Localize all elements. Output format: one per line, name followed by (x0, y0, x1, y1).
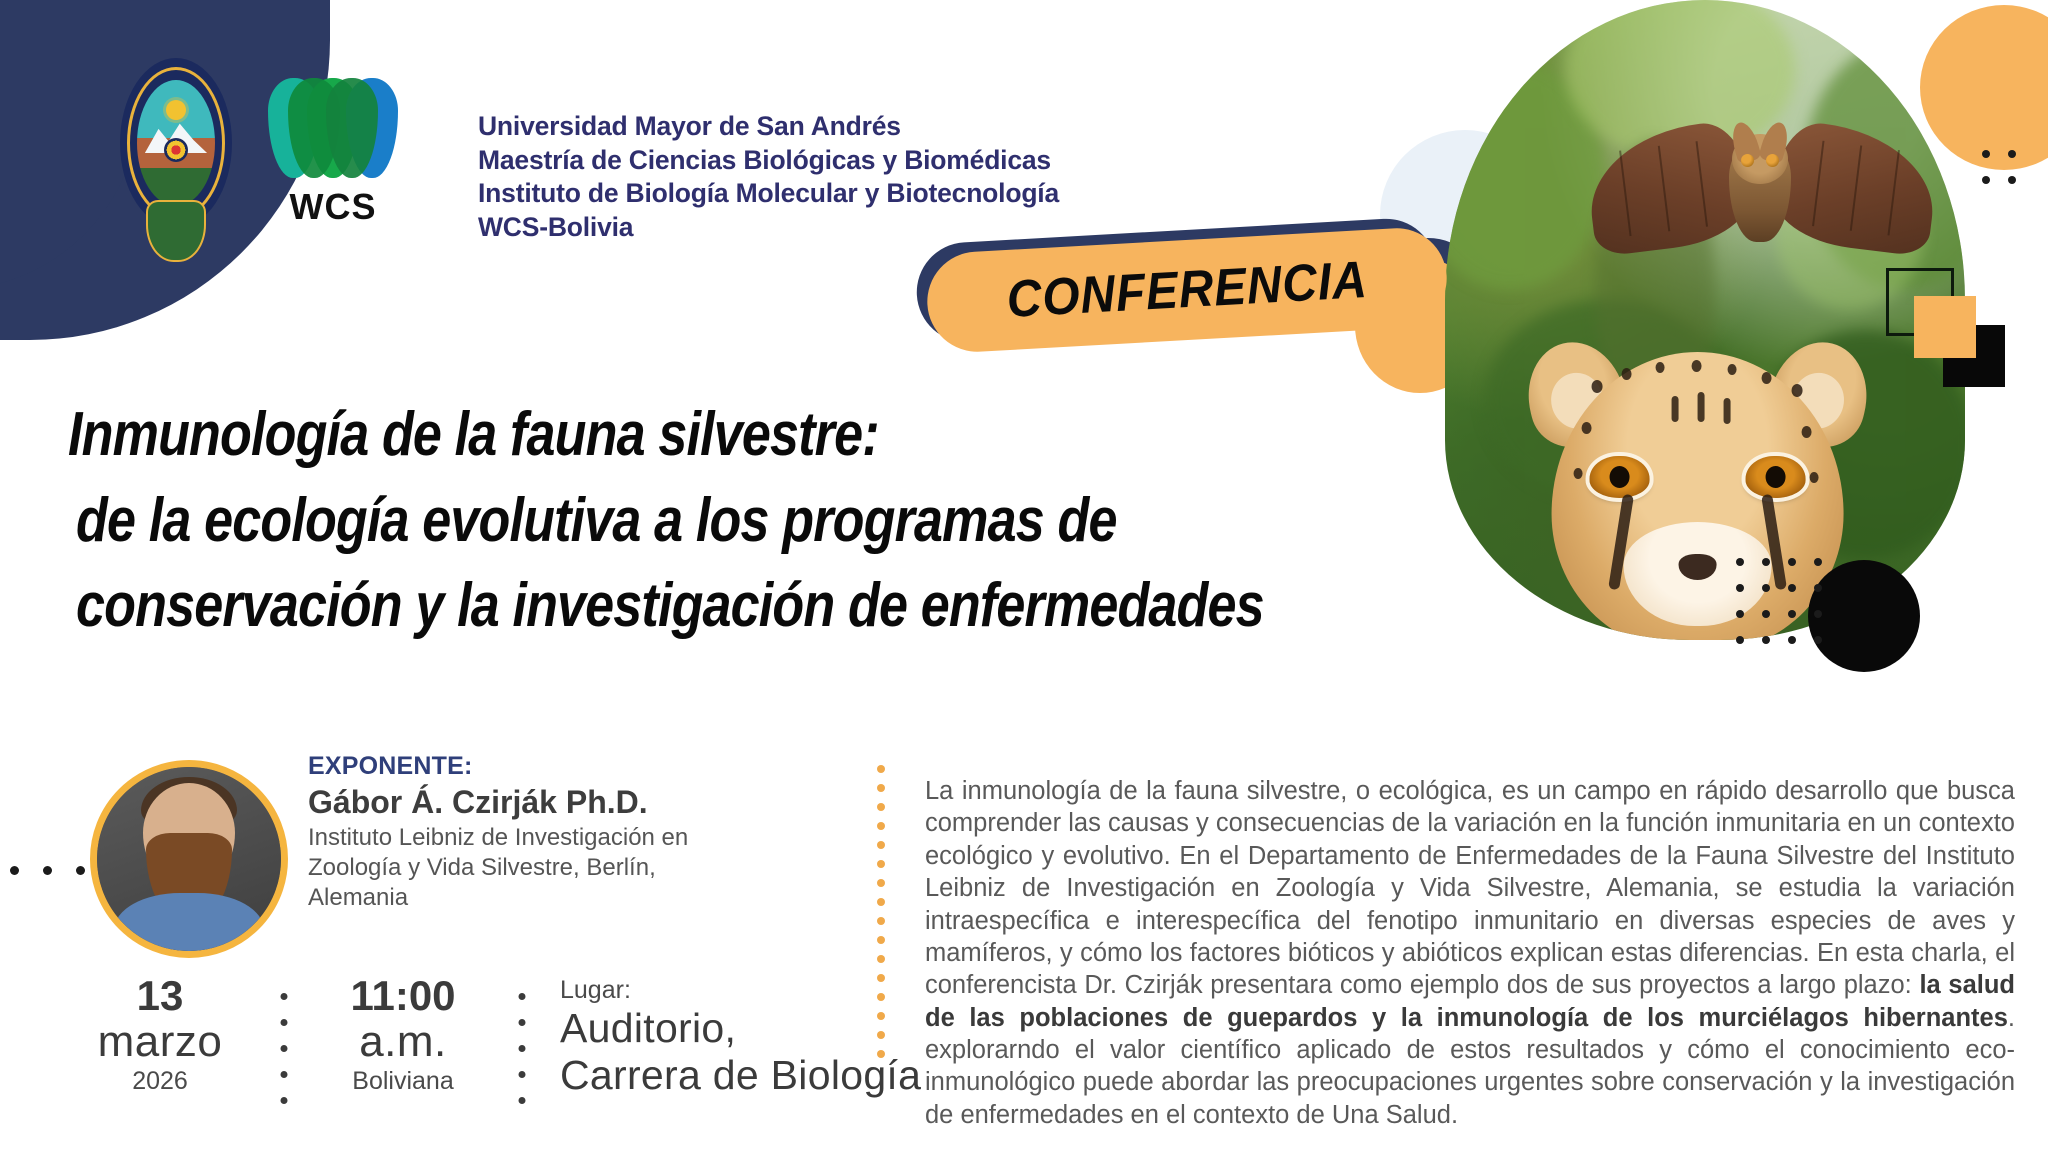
event-date: 13 marzo 2026 (60, 975, 260, 1096)
badge-label: CONFERENCIA (1005, 250, 1369, 330)
wcs-wordmark: WCS (268, 186, 398, 228)
umsa-seal-icon (120, 58, 232, 228)
cheetah-eye-right (1746, 456, 1806, 498)
page-title: Inmunología de la fauna silvestre: de la… (68, 392, 1428, 649)
event-timezone: Boliviana (308, 1066, 498, 1096)
org-line-3: Instituto de Biología Molecular y Biotec… (478, 177, 1118, 211)
separator-dots-2 (498, 993, 546, 1098)
title-line-3: conservación y la investigación de enfer… (76, 563, 1212, 649)
org-line-1: Universidad Mayor de San Andrés (478, 110, 1118, 144)
conference-poster: WCS Universidad Mayor de San Andrés Maes… (0, 0, 2048, 1152)
event-details: 13 marzo 2026 11:00 a.m. Boliviana Lugar… (60, 975, 921, 1099)
event-day: 13 (60, 975, 260, 1017)
speaker-affiliation-line-2: Zoología y Vida Silvestre, Berlín, Alema… (308, 853, 738, 913)
wcs-mark-icon (268, 78, 398, 180)
place-line-1: Auditorio, (560, 1005, 921, 1052)
title-line-2: de la ecología evolutiva a los programas… (76, 478, 1212, 564)
dot-cluster-decoration (1982, 150, 2042, 190)
poster-header: WCS Universidad Mayor de San Andrés Maes… (0, 0, 1120, 260)
orange-square-decoration (1914, 296, 1976, 358)
speaker-affiliation-line-1: Instituto Leibniz de Investigación en (308, 823, 738, 853)
abstract-part-1: La inmunología de la fauna silvestre, o … (925, 777, 2015, 999)
organization-lines: Universidad Mayor de San Andrés Maestría… (478, 110, 1118, 245)
event-meridiem: a.m. (308, 1017, 498, 1066)
avatar (90, 760, 288, 958)
event-year: 2026 (60, 1066, 260, 1096)
bat-head (1732, 134, 1788, 184)
cheetah-eye-left (1590, 456, 1650, 498)
speaker-name: Gábor Á. Czirják Ph.D. (308, 784, 738, 821)
event-month: marzo (60, 1017, 260, 1066)
speaker-label: EXPONENTE: (308, 752, 738, 781)
dot-row-decoration (10, 866, 100, 876)
place-line-2: Carrera de Biología (560, 1052, 921, 1099)
place-label: Lugar: (560, 975, 921, 1005)
bat-eye-right (1766, 154, 1779, 167)
abstract-text: La inmunología de la fauna silvestre, o … (925, 775, 2015, 1131)
speaker-text: EXPONENTE: Gábor Á. Czirják Ph.D. Instit… (308, 752, 738, 914)
dot-grid-decoration (1736, 558, 1856, 674)
event-place: Lugar: Auditorio, Carrera de Biología (560, 975, 921, 1099)
org-line-2: Maestría de Ciencias Biológicas y Bioméd… (478, 144, 1118, 178)
speaker-affiliation: Instituto Leibniz de Investigación en Zo… (308, 823, 738, 914)
bat-illustration (1595, 118, 1925, 283)
event-time: 11:00 a.m. Boliviana (308, 975, 498, 1096)
title-line-1: Inmunología de la fauna silvestre: (68, 392, 1210, 478)
wcs-logo: WCS (268, 78, 398, 228)
event-hour: 11:00 (308, 975, 498, 1017)
bat-eye-left (1741, 154, 1754, 167)
bat-wing-right (1768, 119, 1941, 258)
separator-dots-1 (260, 993, 308, 1098)
